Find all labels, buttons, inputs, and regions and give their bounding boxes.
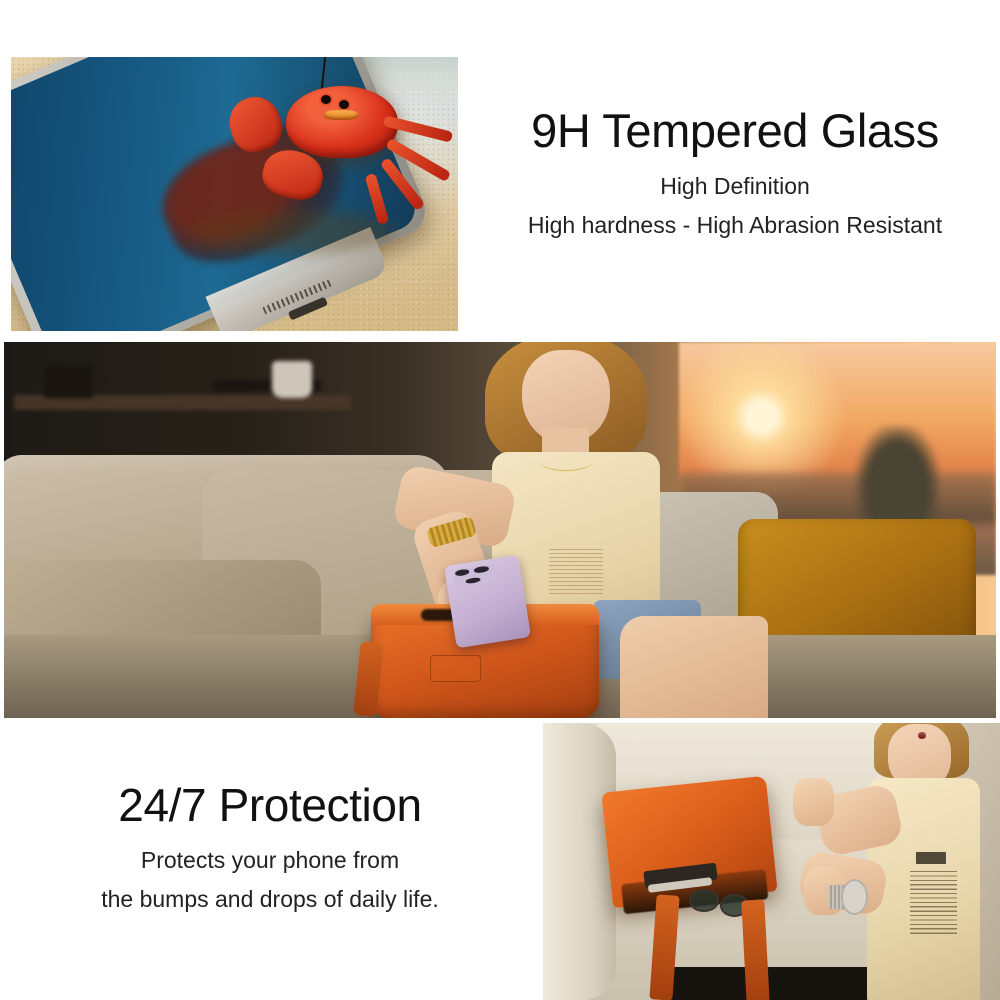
crab [221,68,453,249]
crab-eye-right [339,100,349,109]
woman-bag-sunset-photo [4,342,996,718]
protection-headline: 24/7 Protection [10,780,530,831]
shocked-open-mouth [918,732,926,739]
sunset-tree [856,426,939,529]
handbag-leather-tag [430,655,480,682]
sofa-armrest [543,723,616,1000]
crab-shell [286,86,398,158]
woman-legs [620,616,768,718]
camera-lens-1 [455,569,470,577]
infographic-canvas: 9H Tempered Glass High Definition High h… [0,0,1000,1000]
protection-text-block: 24/7 Protection Protects your phone from… [10,780,530,918]
protection-subline-1: Protects your phone from [10,843,530,879]
crab-eye-left [321,95,331,104]
glass-headline: 9H Tempered Glass [470,105,1000,157]
tank-top-body-print [910,871,958,936]
tank-top-print [549,549,603,595]
glass-subline-2: High hardness - High Abrasion Resistant [470,208,1000,244]
camera-lens-2 [475,566,490,574]
crab-claw-left [223,90,288,157]
shelf-vase [272,361,312,399]
protection-subline-2: the bumps and drops of daily life. [10,882,530,918]
lilac-phone [444,555,531,648]
sunglasses-lens-left [689,889,718,912]
glass-text-block: 9H Tempered Glass High Definition High h… [470,105,1000,244]
shelf-object-left [44,365,94,399]
glass-subline-1: High Definition [470,169,1000,205]
camera-lens-3 [466,577,481,585]
crab-mouth [324,110,357,120]
shocked-woman-hand-top [793,778,833,826]
shocked-woman-figure [826,723,1000,1000]
phone-camera-module [453,564,498,589]
crab-phone-photo [11,57,458,331]
tank-top-heading-print [916,852,945,864]
crab-leg-4 [365,173,390,225]
woman-spilling-bag-photo [543,723,1000,1000]
